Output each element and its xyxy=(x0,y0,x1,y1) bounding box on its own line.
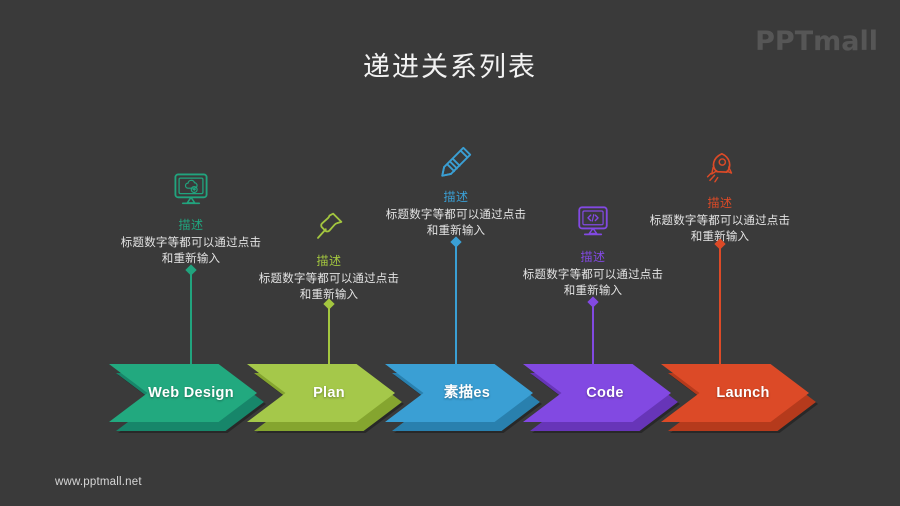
chevron-label: Web Design xyxy=(109,364,257,422)
chevron-plan[interactable]: Plan xyxy=(247,364,395,422)
connector-code xyxy=(592,298,594,366)
pushpin-icon xyxy=(307,204,351,248)
connector-line xyxy=(592,303,594,366)
step-description: 标题数字等都可以通过点击和重新输入 xyxy=(522,268,664,299)
connector-sketch xyxy=(455,238,457,366)
connector-line xyxy=(455,243,457,366)
chevron-web-design[interactable]: Web Design xyxy=(109,364,257,422)
rocket-icon xyxy=(698,146,742,190)
step-callout-launch[interactable]: 描述 标题数字等都可以通过点击和重新输入 xyxy=(625,146,815,245)
chevron-label: Code xyxy=(523,364,671,422)
connector-line xyxy=(190,271,192,366)
footer-url: www.pptmall.net xyxy=(55,476,142,488)
monitor-code-icon xyxy=(571,200,615,244)
step-label: 描述 xyxy=(234,254,424,269)
chevron-launch[interactable]: Launch xyxy=(661,364,809,422)
chevron-label: 素描es xyxy=(385,364,533,422)
chevron-sketch[interactable]: 素描es xyxy=(385,364,533,422)
chevron-label: Launch xyxy=(661,364,809,422)
connector-line xyxy=(719,245,721,366)
connector-web-design xyxy=(190,266,192,366)
step-label: 描述 xyxy=(625,196,815,211)
connector-line xyxy=(328,305,330,366)
step-label: 描述 xyxy=(498,250,688,265)
chevron-banner-row: Web Design Plan 素描es Code Launch xyxy=(0,364,900,444)
chevron-label: Plan xyxy=(247,364,395,422)
slide-canvas: 递进关系列表 PPTmall 描述 标题数字等都可以通过点击和重新输入 xyxy=(0,0,900,506)
chevron-code[interactable]: Code xyxy=(523,364,671,422)
connector-launch xyxy=(719,240,721,366)
pencil-icon xyxy=(434,140,478,184)
connector-plan xyxy=(328,300,330,366)
monitor-cloud-icon xyxy=(169,168,213,212)
